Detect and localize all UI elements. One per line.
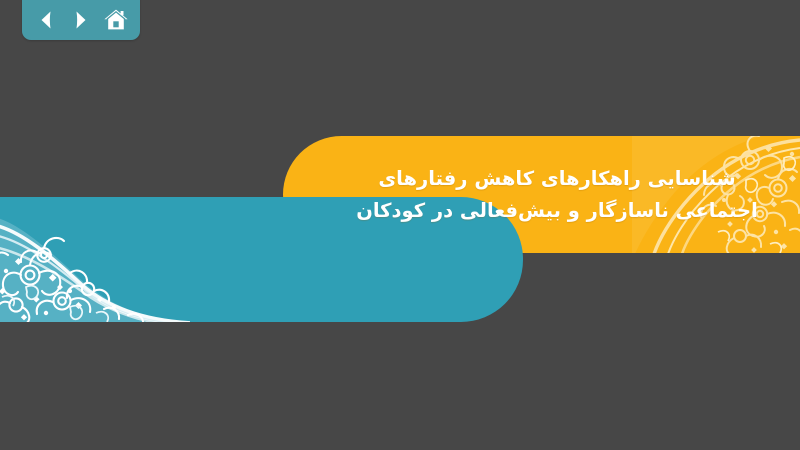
slide-canvas: شناسایی راهکارهای کاهش رفتارهای اجتماعی … [0,0,800,450]
home-button[interactable] [101,6,131,34]
slide-navigation-bar [22,0,140,40]
slide-title: شناسایی راهکارهای کاهش رفتارهای اجتماعی … [342,136,772,253]
next-slide-button[interactable] [66,6,96,34]
title-line-2: اجتماعی ناسازگار و بیش‌فعالی در کودکان [356,195,758,227]
home-icon [103,8,129,32]
next-triangle-icon [70,9,92,31]
previous-triangle-icon [35,9,57,31]
previous-slide-button[interactable] [31,6,61,34]
title-banner: شناسایی راهکارهای کاهش رفتارهای اجتماعی … [283,136,800,253]
title-line-1: شناسایی راهکارهای کاهش رفتارهای [378,163,735,195]
arabesque-corner-ornament [0,197,190,322]
